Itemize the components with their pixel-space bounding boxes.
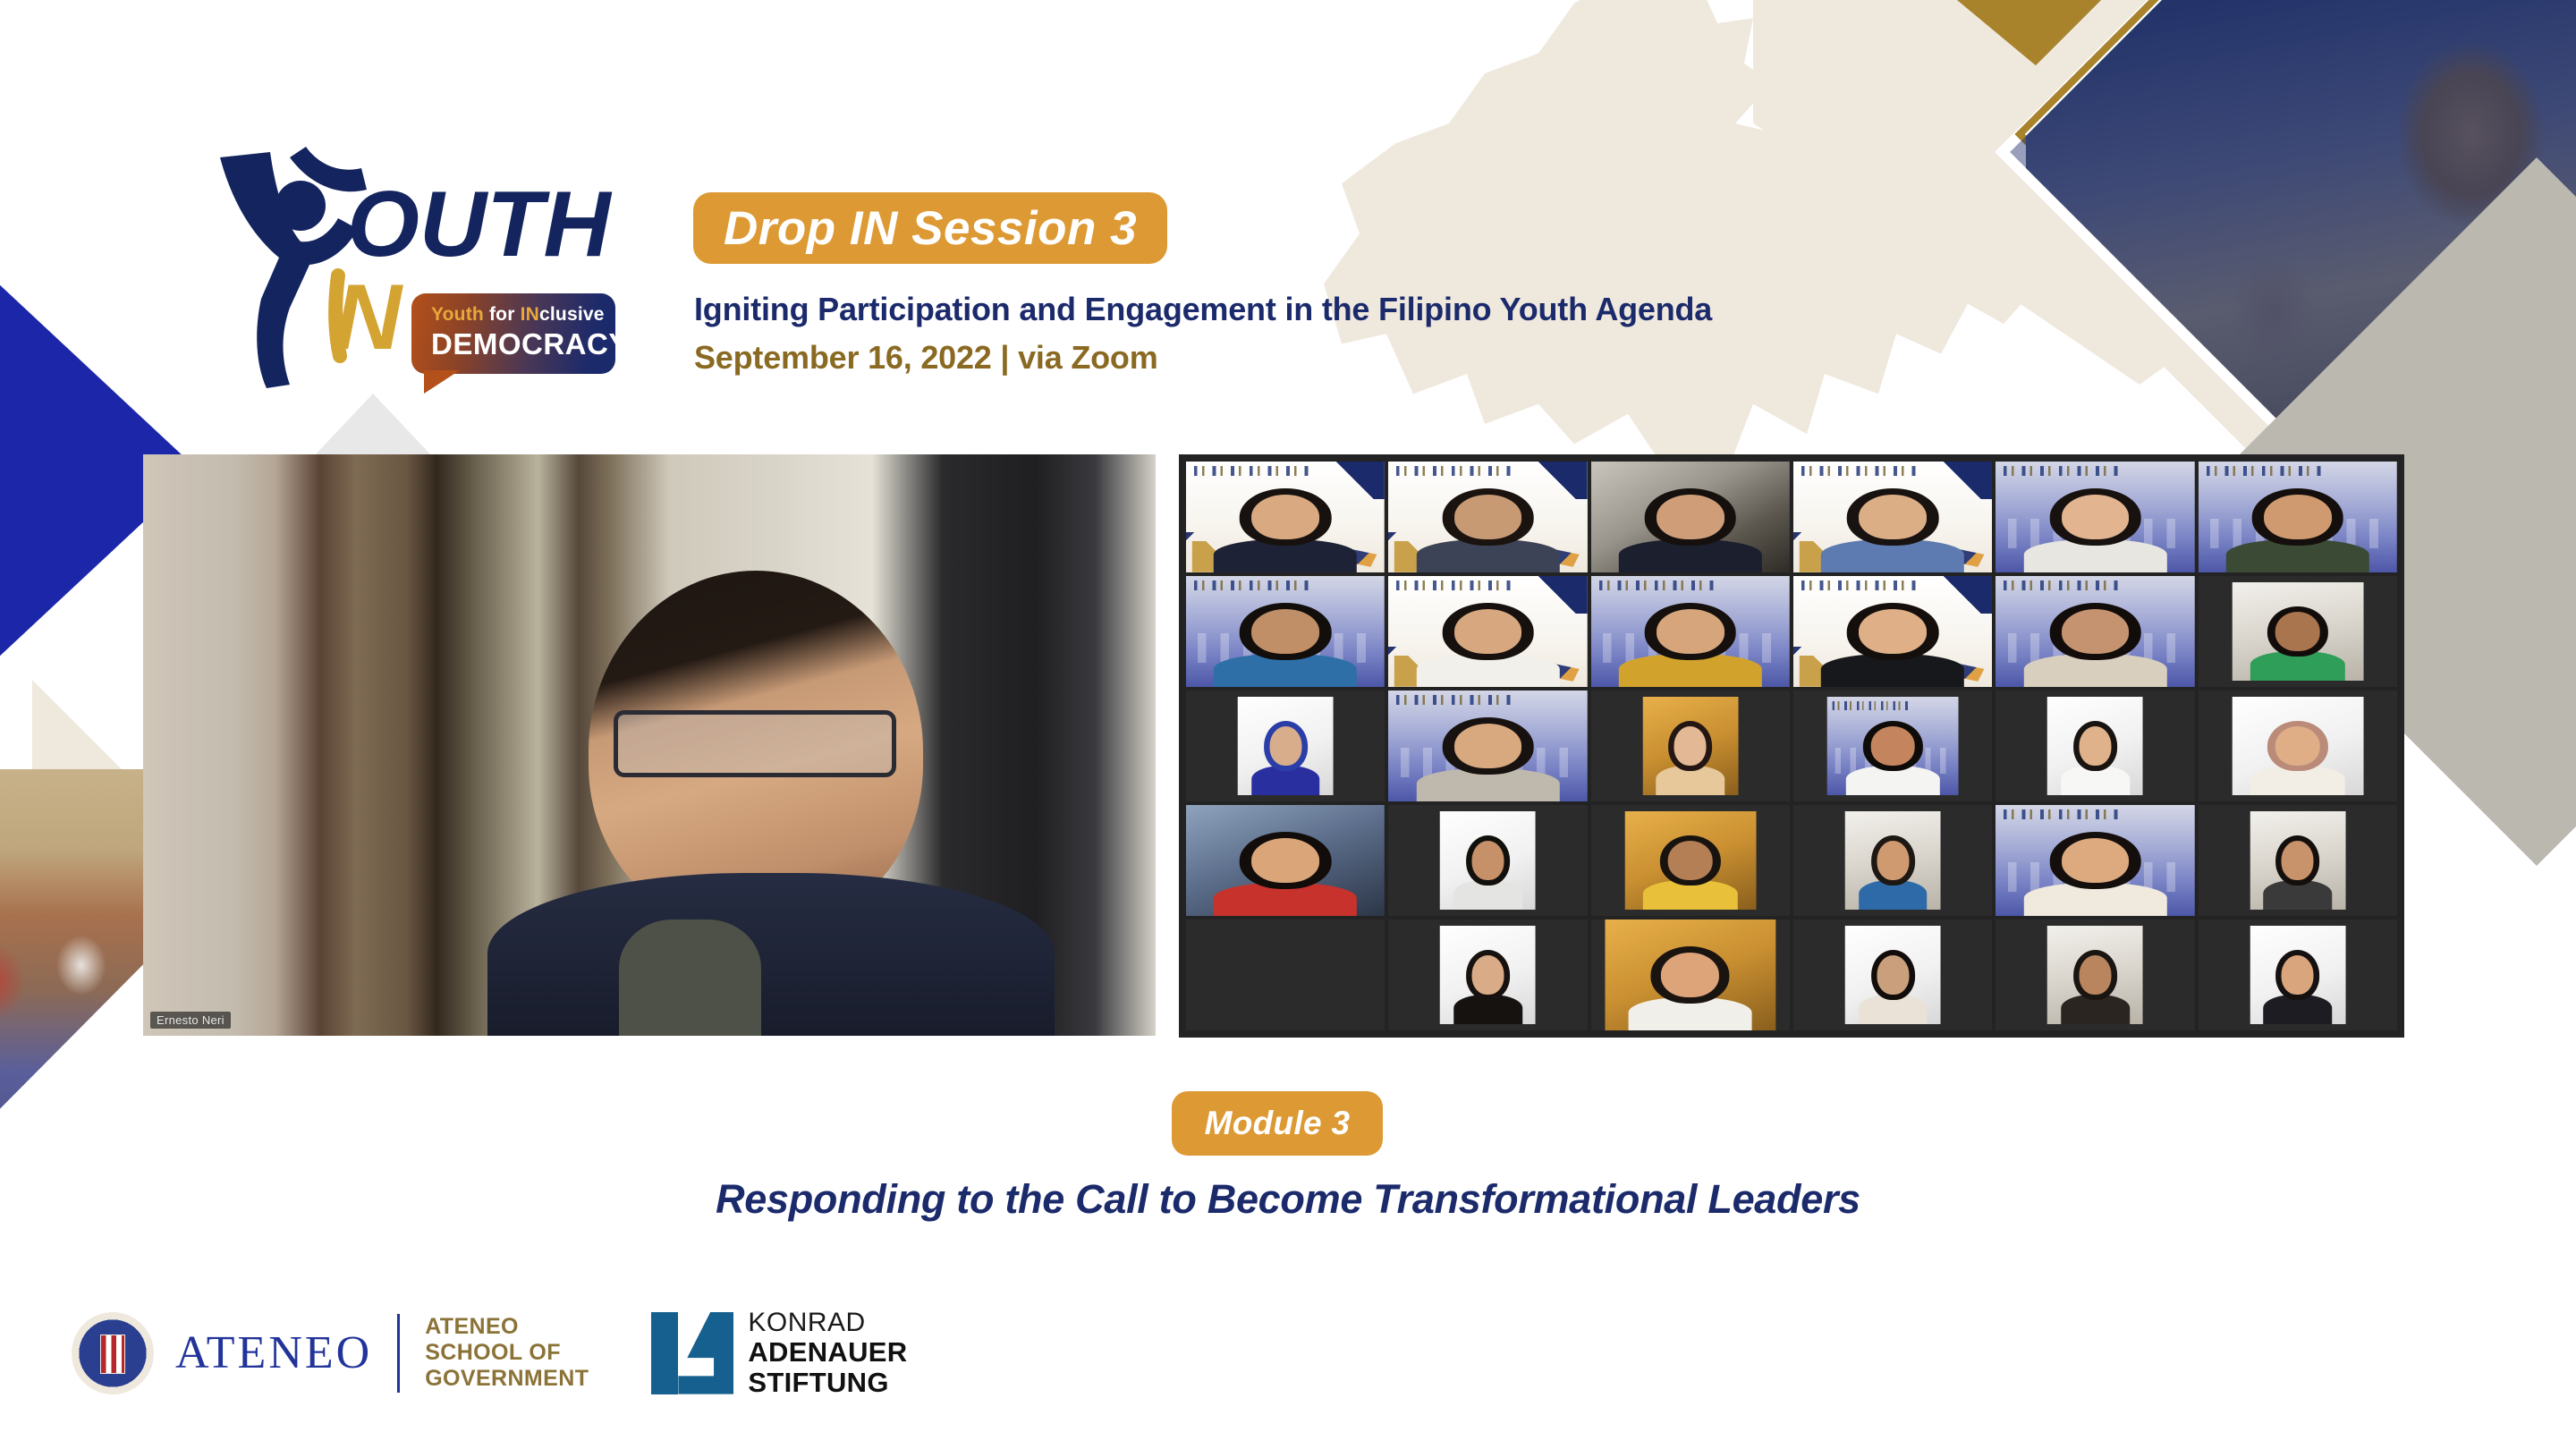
zoom-participant-tile[interactable] xyxy=(2199,805,2397,916)
participant-video xyxy=(2250,926,2345,1023)
virtual-bg-partner-logos xyxy=(1396,580,1512,590)
zoom-participant-tile[interactable] xyxy=(1793,805,1992,916)
badge-line-democracy: DEMOCRACY xyxy=(431,327,629,361)
youth-in-democracy-logo: OUTH N Youth for INclusive DEMOCRACY Min… xyxy=(204,141,660,410)
participant-video xyxy=(1793,576,1992,687)
asg-line-3: GOVERNMENT xyxy=(425,1366,589,1392)
zoom-participant-tile[interactable] xyxy=(1996,805,2194,916)
participant-face xyxy=(2062,609,2130,654)
poster-canvas: OUTH N Youth for INclusive DEMOCRACY Min… xyxy=(0,0,2576,1449)
badge-word-clusive: clusive xyxy=(539,304,605,325)
participant-video xyxy=(1186,462,1385,572)
participant-video xyxy=(1388,576,1587,687)
zoom-participant-tile[interactable] xyxy=(1186,919,1385,1030)
zoom-participant-tile[interactable] xyxy=(1591,919,1790,1030)
participant-video xyxy=(2232,697,2363,794)
zoom-participant-tile[interactable] xyxy=(2199,576,2397,687)
kas-lockup: KONRAD ADENAUER STIFTUNG xyxy=(651,1309,907,1397)
participant-face xyxy=(1251,609,1319,654)
participant-video xyxy=(1996,462,2194,572)
participant-face xyxy=(1454,724,1522,768)
zoom-participant-tile[interactable] xyxy=(1996,576,2194,687)
participant-video xyxy=(1845,926,1941,1023)
participant-face xyxy=(2062,838,2130,883)
svg-text:OUTH: OUTH xyxy=(347,173,613,276)
participant-video xyxy=(1845,811,1941,909)
participant-video xyxy=(1996,576,2194,687)
zoom-participant-tile[interactable] xyxy=(2199,919,2397,1030)
participant-face xyxy=(2062,495,2130,539)
zoom-participant-tile[interactable] xyxy=(1388,576,1587,687)
zoom-participant-tile[interactable] xyxy=(1388,919,1587,1030)
zoom-gallery-panel[interactable] xyxy=(1179,454,2404,1038)
participant-face xyxy=(2282,841,2314,880)
virtual-bg-partner-logos xyxy=(1801,466,1917,476)
virtual-bg-partner-logos xyxy=(2207,466,2322,476)
participant-face xyxy=(2275,612,2320,651)
participant-video xyxy=(1591,576,1790,687)
badge-word-in: IN xyxy=(521,304,539,325)
participant-face xyxy=(1877,955,1909,995)
participant-face xyxy=(1251,838,1319,883)
participant-video xyxy=(1388,462,1587,572)
participant-video xyxy=(1591,462,1790,572)
participant-face xyxy=(1674,726,1707,766)
speaker-torso xyxy=(487,873,1055,1036)
democracy-speech-bubble: Youth for INclusive DEMOCRACY xyxy=(411,293,615,374)
speaker-glasses xyxy=(614,710,896,777)
zoom-participant-tile[interactable] xyxy=(1186,805,1385,916)
zoom-participant-tile[interactable] xyxy=(1186,462,1385,572)
participant-face xyxy=(2275,726,2320,766)
event-subtitle: Igniting Participation and Engagement in… xyxy=(694,291,1712,328)
zoom-participant-tile[interactable] xyxy=(1388,691,1587,801)
zoom-participant-tile[interactable] xyxy=(2199,691,2397,801)
zoom-participant-tile[interactable] xyxy=(1793,919,1992,1030)
virtual-bg-partner-logos xyxy=(1194,466,1309,476)
participant-video xyxy=(2250,811,2345,909)
participant-video xyxy=(1642,697,1738,794)
kas-logo-icon xyxy=(651,1312,733,1394)
participant-face xyxy=(1269,726,1301,766)
participant-face xyxy=(1454,609,1522,654)
badge-word-for: for xyxy=(484,304,521,325)
participant-face xyxy=(1859,609,1927,654)
asg-line-2: SCHOOL OF xyxy=(425,1340,589,1366)
zoom-participant-tile[interactable] xyxy=(1793,691,1992,801)
participant-video xyxy=(1996,805,2194,916)
participant-video xyxy=(1186,576,1385,687)
participant-face xyxy=(2079,726,2111,766)
participant-video xyxy=(1440,926,1536,1023)
participant-face xyxy=(2282,955,2314,995)
virtual-bg-partner-logos xyxy=(1833,701,1909,710)
zoom-participant-tile[interactable] xyxy=(1388,462,1587,572)
main-speaker-video[interactable]: Ernesto Neri xyxy=(143,454,1156,1036)
participant-face xyxy=(1877,841,1909,880)
virtual-bg-partner-logos xyxy=(2004,580,2119,590)
zoom-participant-tile[interactable] xyxy=(1186,576,1385,687)
participant-face xyxy=(1657,609,1724,654)
participant-video xyxy=(1388,691,1587,801)
participant-face xyxy=(1454,495,1522,539)
virtual-bg-partner-logos xyxy=(1396,466,1512,476)
zoom-participant-tile[interactable] xyxy=(1996,462,2194,572)
module-title: Responding to the Call to Become Transfo… xyxy=(0,1176,2576,1223)
zoom-participant-tile[interactable] xyxy=(1591,462,1790,572)
participant-face xyxy=(1471,841,1504,880)
participant-face xyxy=(2264,495,2332,539)
participant-video xyxy=(1440,811,1536,909)
zoom-participant-tile[interactable] xyxy=(1591,805,1790,916)
virtual-bg-partner-logos xyxy=(2004,466,2119,476)
participant-face xyxy=(1661,953,1719,997)
speaker-shirt xyxy=(619,919,760,1036)
participant-video xyxy=(1624,811,1756,909)
zoom-participant-tile[interactable] xyxy=(1793,576,1992,687)
badge-line-one: Youth for INclusive xyxy=(431,304,605,326)
participant-video xyxy=(1186,805,1385,916)
virtual-bg-partner-logos xyxy=(1801,580,1917,590)
kas-wordmark: KONRAD ADENAUER STIFTUNG xyxy=(748,1309,907,1397)
event-datetime: September 16, 2022 | via Zoom xyxy=(694,339,1158,377)
module-badge-text: Module 3 xyxy=(1205,1105,1351,1142)
zoom-participant-tile[interactable] xyxy=(1591,576,1790,687)
zoom-participant-grid xyxy=(1186,462,2397,1030)
zoom-participant-tile[interactable] xyxy=(1186,691,1385,801)
virtual-bg-partner-logos xyxy=(2004,809,2119,819)
kas-line-3: STIFTUNG xyxy=(748,1368,907,1397)
participant-face xyxy=(1657,495,1724,539)
participant-video xyxy=(1793,462,1992,572)
participant-video xyxy=(2199,462,2397,572)
virtual-bg-partner-logos xyxy=(1599,580,1715,590)
asg-line-1: ATENEO xyxy=(425,1314,589,1340)
ateneo-wordmark: ATENEO xyxy=(175,1326,372,1379)
ateneo-seal-icon xyxy=(72,1312,154,1394)
participant-face xyxy=(2079,955,2111,995)
virtual-bg-partner-logos xyxy=(1194,580,1309,590)
participant-video xyxy=(2047,926,2143,1023)
participant-video xyxy=(2047,697,2143,794)
participant-video xyxy=(1238,697,1334,794)
session-title-badge: Drop IN Session 3 xyxy=(693,192,1167,264)
zoom-participant-tile[interactable] xyxy=(1793,462,1992,572)
participant-face xyxy=(1471,955,1504,995)
logo-divider xyxy=(397,1314,400,1393)
participant-face xyxy=(1251,495,1319,539)
participant-face xyxy=(1668,841,1713,880)
kas-line-2: ADENAUER xyxy=(748,1337,907,1367)
session-title-text: Drop IN Session 3 xyxy=(724,201,1137,256)
participant-video xyxy=(2232,582,2363,680)
kas-line-1: KONRAD xyxy=(748,1309,907,1337)
participant-video xyxy=(1605,919,1775,1030)
virtual-bg-partner-logos xyxy=(1396,695,1512,705)
participant-video xyxy=(1827,697,1959,794)
ateneo-school-of-government-lockup: ATENEO SCHOOL OF GOVERNMENT xyxy=(425,1314,589,1392)
participant-face xyxy=(1870,726,1915,766)
speaker-name-badge: Ernesto Neri xyxy=(150,1012,231,1029)
zoom-participant-tile[interactable] xyxy=(2199,462,2397,572)
participant-face xyxy=(1859,495,1927,539)
badge-word-youth: Youth xyxy=(431,304,484,325)
zoom-participant-tile[interactable] xyxy=(1996,919,2194,1030)
zoom-participant-tile[interactable] xyxy=(1591,691,1790,801)
zoom-participant-tile[interactable] xyxy=(1388,805,1587,916)
zoom-participant-tile[interactable] xyxy=(1996,691,2194,801)
footer-logos: ATENEO ATENEO SCHOOL OF GOVERNMENT KONRA… xyxy=(72,1309,907,1397)
module-badge: Module 3 xyxy=(1172,1091,1383,1156)
